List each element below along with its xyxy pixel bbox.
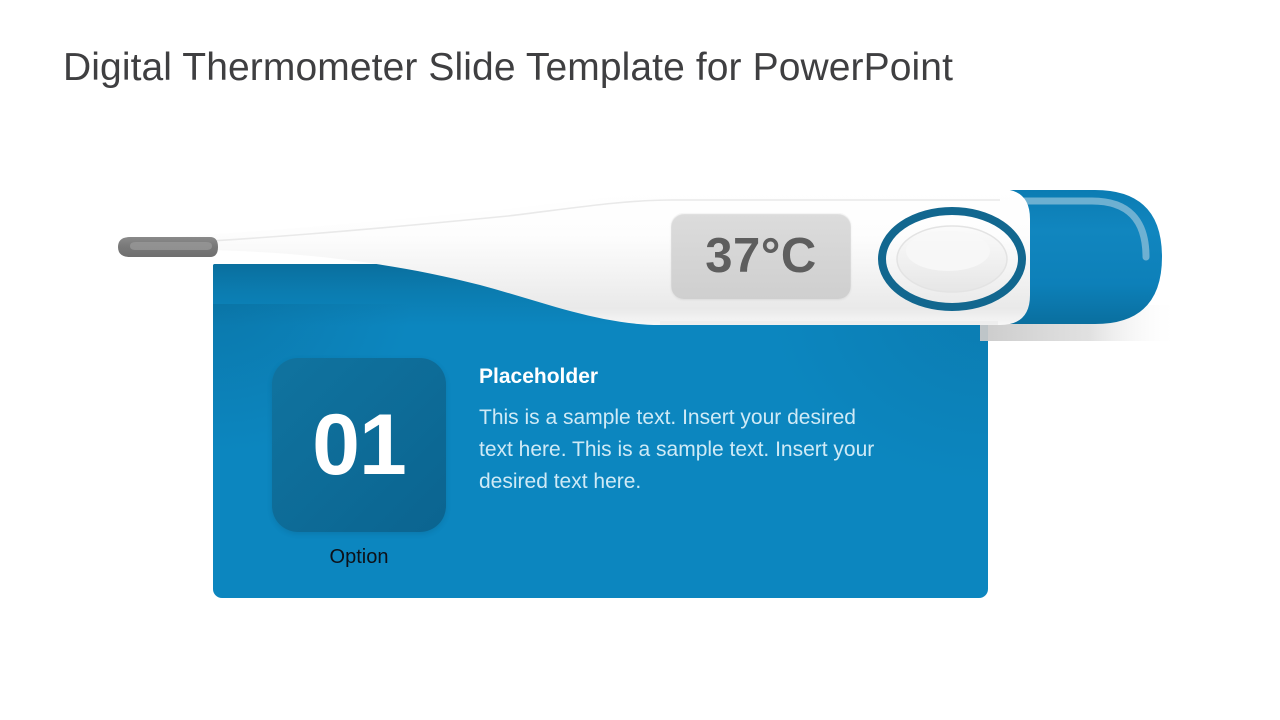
page-title: Digital Thermometer Slide Template for P… <box>63 42 1163 94</box>
option-badge[interactable]: 01 <box>272 358 446 532</box>
placeholder-text-block: Placeholder This is a sample text. Inser… <box>479 363 891 498</box>
probe-tip-highlight <box>130 242 212 250</box>
option-label: Option <box>272 546 446 569</box>
option-number: 01 <box>312 402 406 488</box>
thermometer-illustration <box>100 165 1190 380</box>
thermometer-body <box>122 189 1030 325</box>
power-button-gloss <box>906 231 990 271</box>
placeholder-body-text: This is a sample text. Insert your desir… <box>479 402 891 498</box>
temperature-display: 37°C <box>671 213 851 299</box>
temperature-value: 37°C <box>705 232 816 281</box>
slide-canvas: Digital Thermometer Slide Template for P… <box>0 0 1280 720</box>
